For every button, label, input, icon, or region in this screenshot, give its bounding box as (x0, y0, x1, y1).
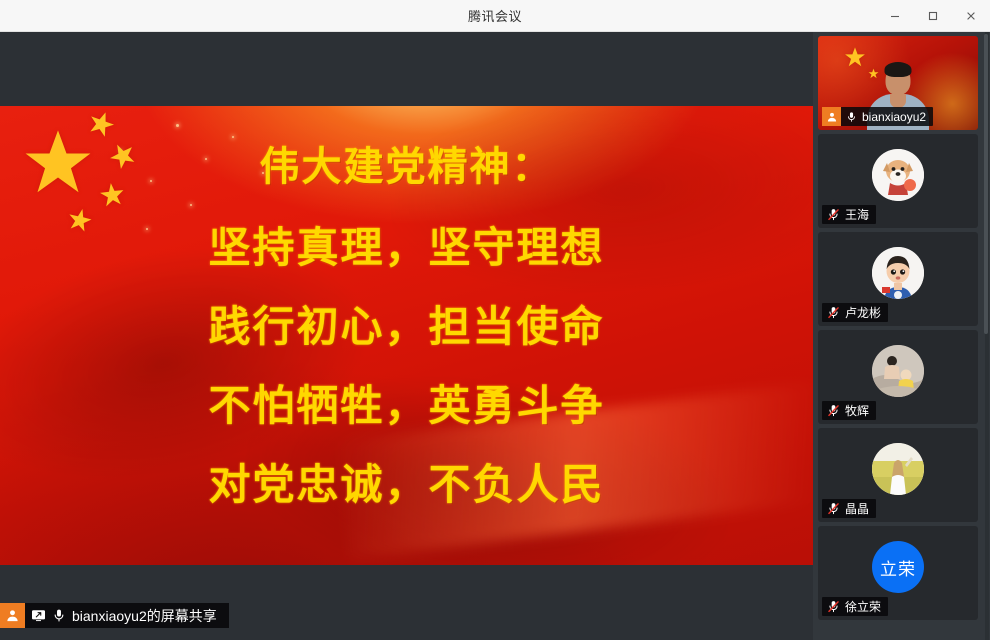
avatar-initials: 立荣 (872, 541, 924, 593)
slide-line-1: 坚持真理，坚守理想 (208, 214, 604, 275)
microphone-muted-icon-wrap (827, 502, 840, 515)
microphone-icon-wrap (52, 608, 66, 623)
tencent-meeting-window: 腾讯会议 (0, 0, 990, 640)
microphone-muted-icon (827, 502, 840, 515)
slide-line-2: 践行初心，担当使命 (208, 293, 604, 354)
host-badge (0, 603, 25, 628)
avatar (872, 149, 924, 201)
person-hair (885, 62, 912, 77)
illustration-avatar-icon (872, 345, 924, 397)
maximize-icon (927, 10, 939, 22)
person-neck (890, 94, 906, 108)
microphone-icon-wrap (846, 111, 857, 123)
participant-name: 王海 (845, 206, 869, 223)
host-badge (822, 107, 841, 126)
sidebar-scrollbar-track[interactable] (985, 32, 989, 640)
microphone-icon (846, 111, 857, 123)
participant-label: 晶晶 (822, 499, 876, 518)
close-icon (965, 10, 977, 22)
avatar (872, 247, 924, 299)
title-bar: 腾讯会议 (0, 0, 990, 32)
person-icon (826, 111, 838, 123)
participant-tile[interactable]: 卢龙彬 (818, 232, 978, 326)
participant-tile[interactable]: 晶晶 (818, 428, 978, 522)
participant-label: 卢龙彬 (822, 303, 888, 322)
dog-avatar-icon (872, 149, 924, 201)
avatar-initials-text: 立荣 (880, 555, 916, 580)
window-controls (876, 0, 990, 32)
participant-name: 牧辉 (845, 402, 869, 419)
microphone-muted-icon-wrap (827, 306, 840, 319)
shared-slide-image: 伟大建党精神： 坚持真理，坚守理想 践行初心，担当使命 不怕牺牲，英勇斗争 对党… (0, 106, 813, 565)
window-title: 腾讯会议 (468, 6, 522, 25)
participant-label: bianxiaoyu2 (822, 107, 933, 126)
participant-tile[interactable]: bianxiaoyu2 (818, 36, 978, 130)
cartoon-boy-avatar-icon (872, 247, 924, 299)
microphone-icon (52, 608, 66, 623)
participant-name: 卢龙彬 (845, 304, 881, 321)
participant-sidebar[interactable]: bianxiaoyu2 (813, 32, 990, 640)
participant-tile[interactable]: 立荣 徐立荣 (818, 526, 978, 620)
slide-line-3: 不怕牺牲，英勇斗争 (208, 372, 604, 433)
slide-title: 伟大建党精神： (260, 134, 554, 192)
microphone-muted-icon-wrap (827, 600, 840, 613)
shared-screen-stage[interactable]: 伟大建党精神： 坚持真理，坚守理想 践行初心，担当使命 不怕牺牲，英勇斗争 对党… (0, 32, 813, 640)
avatar (872, 345, 924, 397)
screen-share-icon-wrap (31, 608, 46, 623)
photo-avatar-icon (872, 443, 924, 495)
person-icon (5, 608, 20, 623)
participant-label: 王海 (822, 205, 876, 224)
participant-tile[interactable]: 牧辉 (818, 330, 978, 424)
microphone-muted-icon-wrap (827, 208, 840, 221)
sidebar-scrollbar-thumb[interactable] (984, 34, 988, 334)
microphone-muted-icon-wrap (827, 404, 840, 417)
microphone-muted-icon (827, 208, 840, 221)
participant-name: 徐立荣 (845, 598, 881, 615)
minimize-button[interactable] (876, 0, 914, 32)
meeting-body: 伟大建党精神： 坚持真理，坚守理想 践行初心，担当使命 不怕牺牲，英勇斗争 对党… (0, 32, 990, 640)
slide-text-block: 伟大建党精神： 坚持真理，坚守理想 践行初心，担当使命 不怕牺牲，英勇斗争 对党… (0, 106, 813, 565)
screen-share-status-text: bianxiaoyu2的屏幕共享 (72, 606, 217, 626)
microphone-muted-icon (827, 600, 840, 613)
screen-share-icon (31, 608, 46, 623)
participant-name: 晶晶 (845, 500, 869, 517)
participant-label: 徐立荣 (822, 597, 888, 616)
slide-line-4: 对党忠诚，不负人民 (208, 451, 604, 512)
participant-tile[interactable]: 王海 (818, 134, 978, 228)
avatar (872, 443, 924, 495)
maximize-button[interactable] (914, 0, 952, 32)
participant-name: bianxiaoyu2 (862, 110, 926, 124)
participant-label: 牧辉 (822, 401, 876, 420)
minimize-icon (889, 10, 901, 22)
microphone-muted-icon (827, 306, 840, 319)
microphone-muted-icon (827, 404, 840, 417)
close-button[interactable] (952, 0, 990, 32)
flag-star-icon (844, 46, 866, 68)
screen-share-status-bar: bianxiaoyu2的屏幕共享 (0, 603, 229, 628)
